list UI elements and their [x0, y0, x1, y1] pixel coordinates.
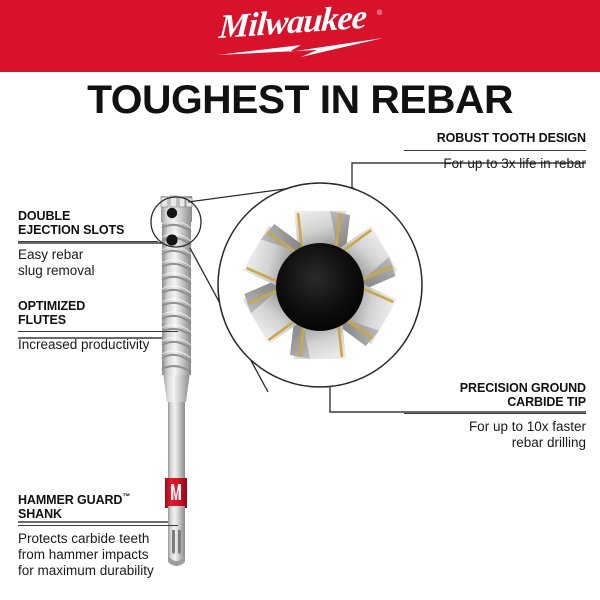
callout-body: For up to 3x life in rebar	[404, 156, 586, 172]
callout-title-line2: SHANK	[18, 507, 62, 521]
callout-rule	[404, 150, 586, 151]
callout-title-line1: HAMMER GUARD	[18, 493, 122, 507]
callout-hammer-guard-shank: HAMMER GUARD™SHANK Protects carbide teet…	[18, 490, 178, 579]
callout-rule	[18, 525, 178, 526]
callout-optimized-flutes: OPTIMIZED FLUTES Increased productivity	[18, 300, 178, 353]
callout-rule	[18, 241, 158, 242]
callout-robust-tooth-design: ROBUST TOOTH DESIGN For up to 3x life in…	[404, 132, 586, 172]
callout-title: PRECISION GROUND CARBIDE TIP	[404, 382, 586, 409]
callout-title: HAMMER GUARD™SHANK	[18, 490, 178, 521]
callout-precision-ground-carbide-tip: PRECISION GROUND CARBIDE TIP For up to 1…	[404, 382, 586, 451]
callout-title: ROBUST TOOTH DESIGN	[404, 132, 586, 146]
callout-title: OPTIMIZED FLUTES	[18, 300, 178, 327]
callout-body: Easy rebar slug removal	[18, 247, 158, 279]
callout-rule	[404, 413, 586, 414]
callout-body: Increased productivity	[18, 337, 178, 353]
callout-body: Protects carbide teeth from hammer impac…	[18, 531, 178, 579]
infographic-canvas: Milwaukee ® TOUGHEST IN REBAR	[0, 0, 600, 600]
callout-rule	[18, 331, 178, 332]
callout-double-ejection-slots: DOUBLE EJECTION SLOTS Easy rebar slug re…	[18, 210, 158, 279]
callout-body: For up to 10x faster rebar drilling	[404, 419, 586, 451]
callout-title: DOUBLE EJECTION SLOTS	[18, 210, 158, 237]
trademark-mark: ™	[122, 492, 130, 501]
